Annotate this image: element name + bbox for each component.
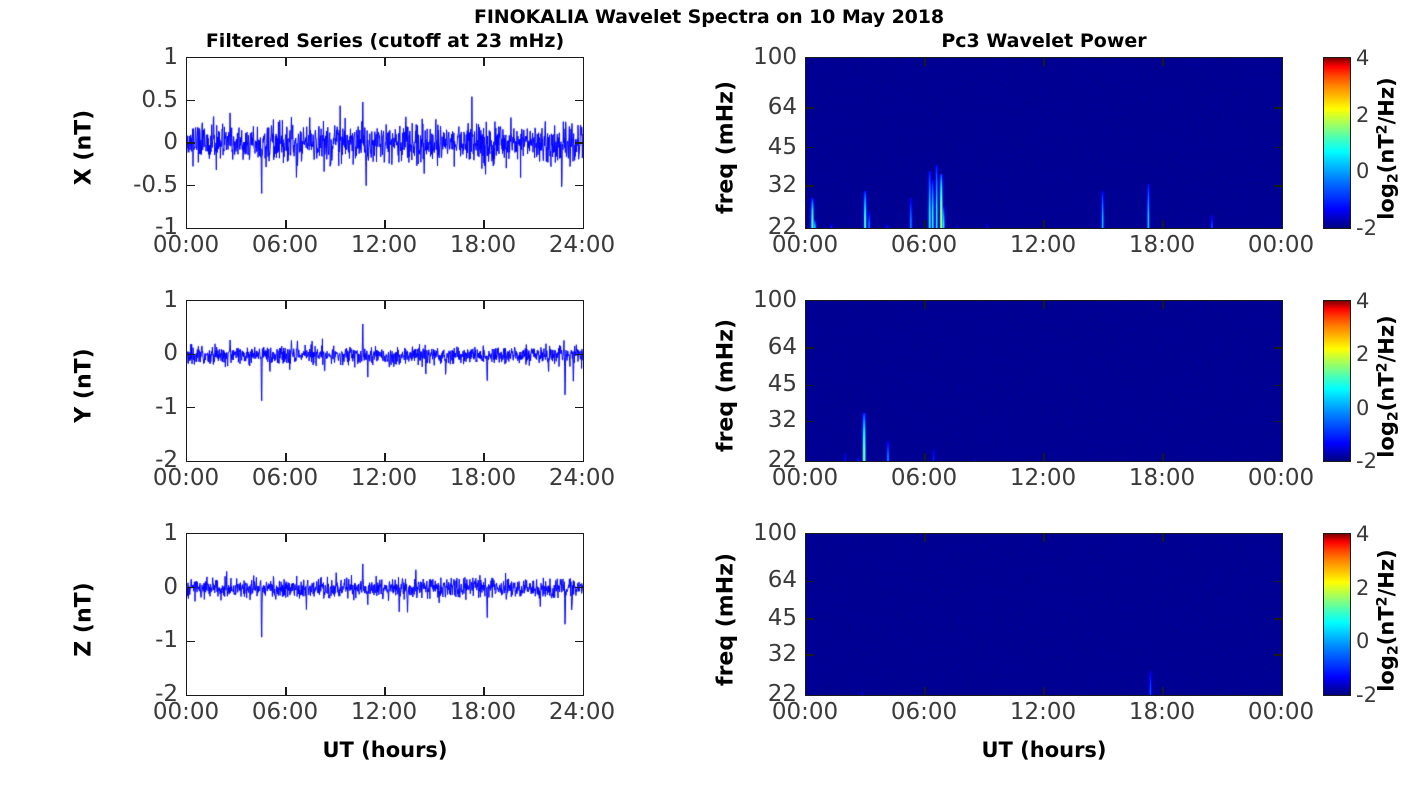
colorbar-y: -2024 xyxy=(1323,300,1351,462)
y-tick-label: 45 xyxy=(768,134,797,160)
x-tick-label: 12:00 xyxy=(1010,465,1076,491)
timeseries-axes-y xyxy=(186,300,584,462)
y-tickmark xyxy=(187,100,195,102)
y-tick-label: 0 xyxy=(163,340,178,366)
x-tickmark xyxy=(483,453,485,461)
y-tickmark-right xyxy=(575,587,583,589)
colorbar-label-z: log2(nT2/Hz) xyxy=(1374,531,1401,711)
x-tick-label: 18:00 xyxy=(1129,232,1195,258)
y-tick-label: 64 xyxy=(768,334,797,360)
y-tickmark xyxy=(806,185,814,187)
x-tick-label: 12:00 xyxy=(351,232,417,258)
axis-label-x-nt: X (nT) xyxy=(72,58,97,238)
axis-label-z-nt: Z (nT) xyxy=(72,530,97,710)
spectrogram-canvas-y xyxy=(806,301,1283,462)
y-tick-label: 1 xyxy=(163,520,178,546)
x-tickmark-top xyxy=(924,58,926,66)
x-tick-label: 00:00 xyxy=(153,699,219,725)
x-tickmark-top xyxy=(483,301,485,309)
x-tick-label: 00:00 xyxy=(1248,465,1314,491)
x-tick-label: 06:00 xyxy=(252,699,318,725)
y-tickmark-right xyxy=(1274,581,1282,583)
x-tickmark xyxy=(1162,687,1164,695)
x-tickmark xyxy=(384,453,386,461)
y-tickmark-right xyxy=(1274,654,1282,656)
x-tickmark-top xyxy=(1043,58,1045,66)
x-tick-label: 06:00 xyxy=(891,232,957,258)
y-tick-label: 64 xyxy=(768,94,797,120)
y-tickmark-right xyxy=(1274,347,1282,349)
y-tick-label: -1 xyxy=(155,394,178,420)
spectrogram-canvas-z xyxy=(806,534,1283,696)
x-tick-label: 06:00 xyxy=(252,232,318,258)
x-tick-label: 24:00 xyxy=(549,699,615,725)
x-tick-label: 24:00 xyxy=(549,465,615,491)
right-column-title: Pc3 Wavelet Power xyxy=(805,30,1283,52)
axis-label-freq-x: freq (mHz) xyxy=(714,58,739,238)
colorbar-tick-label: 0 xyxy=(1356,629,1369,653)
y-tick-label: 32 xyxy=(768,407,797,433)
x-tick-label: 12:00 xyxy=(351,699,417,725)
y-tickmark xyxy=(187,142,195,144)
y-tickmark-right xyxy=(1274,385,1282,387)
x-tickmark xyxy=(924,453,926,461)
x-tick-label: 24:00 xyxy=(549,232,615,258)
spectrogram-axes-x xyxy=(805,57,1283,229)
x-tick-label: 00:00 xyxy=(772,232,838,258)
axis-label-freq-y: freq (mHz) xyxy=(714,296,739,476)
x-tickmark xyxy=(1162,220,1164,228)
x-tick-label: 18:00 xyxy=(450,465,516,491)
x-tickmark xyxy=(384,687,386,695)
colorbar-tick-label: 0 xyxy=(1356,396,1369,420)
x-tickmark-top xyxy=(384,301,386,309)
y-tick-label: 1 xyxy=(163,44,178,70)
colorbar-tick-label: 4 xyxy=(1356,289,1369,313)
axis-label-freq-z: freq (mHz) xyxy=(714,530,739,710)
colorbar-tick-label: 4 xyxy=(1356,522,1369,546)
x-tickmark-top xyxy=(1162,301,1164,309)
x-tick-label: 12:00 xyxy=(1010,232,1076,258)
y-tick-label: 32 xyxy=(768,172,797,198)
colorbar-tick-label: 4 xyxy=(1356,46,1369,70)
x-tickmark-top xyxy=(483,58,485,66)
x-tickmark xyxy=(285,220,287,228)
x-tick-label: 18:00 xyxy=(1129,699,1195,725)
x-tickmark xyxy=(1043,220,1045,228)
y-tickmark-right xyxy=(575,641,583,643)
x-tick-label: 18:00 xyxy=(1129,465,1195,491)
spectrogram-canvas-x xyxy=(806,58,1283,229)
spectrogram-axes-z xyxy=(805,533,1283,696)
y-tickmark xyxy=(806,147,814,149)
x-tickmark xyxy=(924,687,926,695)
y-tickmark-right xyxy=(1274,107,1282,109)
x-tickmark-top xyxy=(285,301,287,309)
xlabel-right: UT (hours) xyxy=(805,738,1283,762)
y-tick-label: 0 xyxy=(163,129,178,155)
timeseries-axes-z xyxy=(186,533,584,696)
x-tickmark-top xyxy=(924,301,926,309)
y-tick-label: 32 xyxy=(768,641,797,667)
colorbar-tick-label: 2 xyxy=(1356,342,1369,366)
colorbar-x: -2024 xyxy=(1323,57,1351,229)
timeseries-canvas-y xyxy=(187,301,584,462)
x-tick-label: 06:00 xyxy=(252,465,318,491)
y-tickmark-right xyxy=(575,142,583,144)
y-tickmark-right xyxy=(575,100,583,102)
x-tickmark xyxy=(1043,453,1045,461)
y-tick-label: 100 xyxy=(753,287,797,313)
x-tickmark-top xyxy=(285,534,287,542)
timeseries-canvas-x xyxy=(187,58,584,229)
x-tick-label: 00:00 xyxy=(1248,699,1314,725)
y-tick-label: 100 xyxy=(753,520,797,546)
timeseries-canvas-z xyxy=(187,534,584,696)
x-tick-label: 00:00 xyxy=(1248,232,1314,258)
x-tickmark-top xyxy=(285,58,287,66)
x-tick-label: 00:00 xyxy=(153,465,219,491)
x-tick-label: 18:00 xyxy=(450,232,516,258)
figure-root: FINOKALIA Wavelet Spectra on 10 May 2018… xyxy=(0,0,1418,788)
y-tickmark-right xyxy=(1274,185,1282,187)
axis-label-y-nt: Y (nT) xyxy=(72,296,97,476)
y-tickmark-right xyxy=(1274,618,1282,620)
colorbar-z: -2024 xyxy=(1323,533,1351,696)
y-tickmark-right xyxy=(575,354,583,356)
x-tickmark xyxy=(483,687,485,695)
y-tick-label: 45 xyxy=(768,371,797,397)
x-tick-label: 06:00 xyxy=(891,465,957,491)
x-tick-label: 00:00 xyxy=(772,699,838,725)
y-tickmark-right xyxy=(575,407,583,409)
y-tick-label: -1 xyxy=(155,627,178,653)
x-tick-label: 12:00 xyxy=(1010,699,1076,725)
y-tickmark-right xyxy=(575,185,583,187)
x-tickmark-top xyxy=(1043,301,1045,309)
y-tickmark xyxy=(187,641,195,643)
y-tickmark xyxy=(806,385,814,387)
x-tickmark xyxy=(1162,453,1164,461)
x-tickmark xyxy=(285,687,287,695)
x-tickmark xyxy=(384,220,386,228)
x-tickmark-top xyxy=(384,534,386,542)
y-tick-label: 0 xyxy=(163,574,178,600)
xlabel-left: UT (hours) xyxy=(186,738,584,762)
x-tickmark xyxy=(285,453,287,461)
colorbar-label-x: log2(nT2/Hz) xyxy=(1374,59,1401,239)
x-tick-label: 12:00 xyxy=(351,465,417,491)
spectrogram-axes-y xyxy=(805,300,1283,462)
y-tickmark xyxy=(806,581,814,583)
x-tick-label: 06:00 xyxy=(891,699,957,725)
x-tickmark-top xyxy=(1162,58,1164,66)
y-tickmark-right xyxy=(1274,421,1282,423)
x-tickmark-top xyxy=(483,534,485,542)
x-tickmark xyxy=(483,220,485,228)
left-column-title: Filtered Series (cutoff at 23 mHz) xyxy=(186,30,584,52)
y-tickmark xyxy=(806,654,814,656)
x-tickmark xyxy=(924,220,926,228)
y-tick-label: 45 xyxy=(768,605,797,631)
y-tickmark xyxy=(187,185,195,187)
colorbar-label-y: log2(nT2/Hz) xyxy=(1374,297,1401,477)
y-tickmark-right xyxy=(1274,147,1282,149)
y-tickmark xyxy=(187,587,195,589)
y-tick-label: 0.5 xyxy=(141,87,178,113)
x-tickmark-top xyxy=(384,58,386,66)
x-tick-label: 00:00 xyxy=(772,465,838,491)
x-tickmark-top xyxy=(1043,534,1045,542)
colorbar-tick-label: 0 xyxy=(1356,159,1369,183)
timeseries-axes-x xyxy=(186,57,584,229)
y-tickmark xyxy=(187,354,195,356)
y-tickmark xyxy=(806,421,814,423)
x-tickmark xyxy=(1043,687,1045,695)
y-tickmark xyxy=(806,107,814,109)
x-tickmark-top xyxy=(1162,534,1164,542)
y-tickmark xyxy=(806,347,814,349)
y-tick-label: 100 xyxy=(753,44,797,70)
x-tick-label: 00:00 xyxy=(153,232,219,258)
x-tick-label: 18:00 xyxy=(450,699,516,725)
colorbar-tick-label: 2 xyxy=(1356,576,1369,600)
colorbar-tick-label: 2 xyxy=(1356,103,1369,127)
y-tick-label: 1 xyxy=(163,287,178,313)
x-tickmark-top xyxy=(924,534,926,542)
y-tick-label: -0.5 xyxy=(133,172,178,198)
y-tick-label: 64 xyxy=(768,567,797,593)
y-tickmark xyxy=(806,618,814,620)
figure-title: FINOKALIA Wavelet Spectra on 10 May 2018 xyxy=(0,6,1418,28)
y-tickmark xyxy=(187,407,195,409)
